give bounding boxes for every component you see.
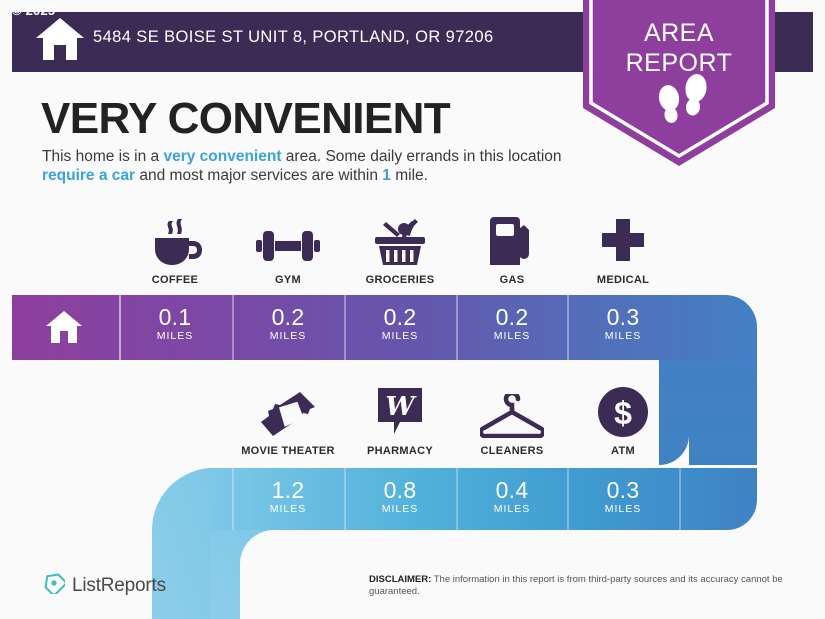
distance-value: 0.2 [243, 305, 333, 329]
distance-unit: MILES [355, 330, 445, 342]
svg-text:W: W [385, 392, 417, 422]
distance-value: 0.2 [355, 305, 445, 329]
listreports-logo-text: ListReports [72, 575, 166, 597]
distance-value: 0.3 [578, 305, 668, 329]
distance-unit: MILES [355, 503, 445, 515]
category-coffee: COFFEE [130, 215, 220, 286]
page-title: VERY CONVENIENT [41, 94, 450, 144]
svg-text:$: $ [614, 395, 632, 431]
movie-ticket-icon [238, 386, 338, 438]
distance-unit: MILES [130, 330, 220, 342]
distance-unit: MILES [467, 503, 557, 515]
category-groceries: GROCERIES [355, 215, 445, 286]
disclaimer: DISCLAIMER: The information in this repo… [369, 574, 789, 597]
dollar-circle-icon: $ [578, 386, 668, 438]
badge-line-2: REPORT [583, 48, 775, 78]
property-address: 5484 SE BOISE ST UNIT 8, PORTLAND, OR 97… [93, 28, 494, 47]
coffee-cup-icon [130, 215, 220, 267]
copyright-label: © 2025 [12, 3, 55, 18]
category-movie-theater: MOVIE THEATER [238, 386, 338, 457]
gas-pump-icon [467, 215, 557, 267]
category-label: GAS [467, 274, 557, 286]
category-label: CLEANERS [467, 445, 557, 457]
header-home-icon [34, 16, 86, 62]
category-label: ATM [578, 445, 668, 457]
description-text: This home is in a very convenient area. … [42, 147, 602, 185]
category-label: GROCERIES [355, 274, 445, 286]
badge-text: AREA REPORT [583, 18, 775, 78]
clothes-hanger-icon [467, 386, 557, 438]
disclaimer-label: DISCLAIMER: [369, 574, 431, 585]
distance-value: 0.3 [578, 478, 668, 502]
desc-highlight-3: 1 [382, 167, 391, 184]
badge-line-1: AREA [583, 18, 775, 48]
distance-cleaners: 0.4 MILES [467, 478, 557, 515]
distance-unit: MILES [578, 503, 668, 515]
distance-unit: MILES [243, 503, 333, 515]
medical-cross-icon [578, 215, 668, 267]
distance-value: 1.2 [243, 478, 333, 502]
desc-part-1: This home is in a [42, 148, 163, 165]
dumbbell-icon [243, 215, 333, 267]
distance-gym: 0.2 MILES [243, 305, 333, 342]
desc-part-4: mile. [391, 167, 428, 184]
distance-atm: 0.3 MILES [578, 478, 668, 515]
distance-pharmacy: 0.8 MILES [355, 478, 445, 515]
listreports-logo-icon [43, 572, 65, 599]
category-label: GYM [243, 274, 333, 286]
disclaimer-text: The information in this report is from t… [369, 574, 783, 597]
distance-gas: 0.2 MILES [467, 305, 557, 342]
distance-movie-theater: 1.2 MILES [243, 478, 333, 515]
category-label: MEDICAL [578, 274, 668, 286]
listreports-logo: ListReports [43, 572, 166, 599]
category-label: COFFEE [130, 274, 220, 286]
desc-highlight-2: require a car [42, 167, 135, 184]
distance-value: 0.4 [467, 478, 557, 502]
area-report-page: 5484 SE BOISE ST UNIT 8, PORTLAND, OR 97… [0, 0, 825, 619]
distance-value: 0.1 [130, 305, 220, 329]
grocery-basket-icon [355, 215, 445, 267]
category-gym: GYM [243, 215, 333, 286]
distance-groceries: 0.2 MILES [355, 305, 445, 342]
category-pharmacy: W PHARMACY [355, 386, 445, 457]
desc-highlight-1: very convenient [163, 148, 281, 165]
distance-unit: MILES [578, 330, 668, 342]
pharmacy-w-icon: W [355, 386, 445, 438]
desc-part-2: area. Some daily errands in this locatio… [282, 148, 562, 165]
distance-value: 0.2 [467, 305, 557, 329]
category-atm: $ ATM [578, 386, 668, 457]
distance-value: 0.8 [355, 478, 445, 502]
category-cleaners: CLEANERS [467, 386, 557, 457]
distance-coffee: 0.1 MILES [130, 305, 220, 342]
distance-unit: MILES [467, 330, 557, 342]
category-medical: MEDICAL [578, 215, 668, 286]
ribbon-home-icon [44, 309, 84, 345]
desc-part-3: and most major services are within [135, 167, 382, 184]
distance-unit: MILES [243, 330, 333, 342]
area-report-badge: AREA REPORT [583, 0, 775, 168]
distance-medical: 0.3 MILES [578, 305, 668, 342]
category-label: PHARMACY [355, 445, 445, 457]
category-gas: GAS [467, 215, 557, 286]
category-label: MOVIE THEATER [238, 445, 338, 457]
